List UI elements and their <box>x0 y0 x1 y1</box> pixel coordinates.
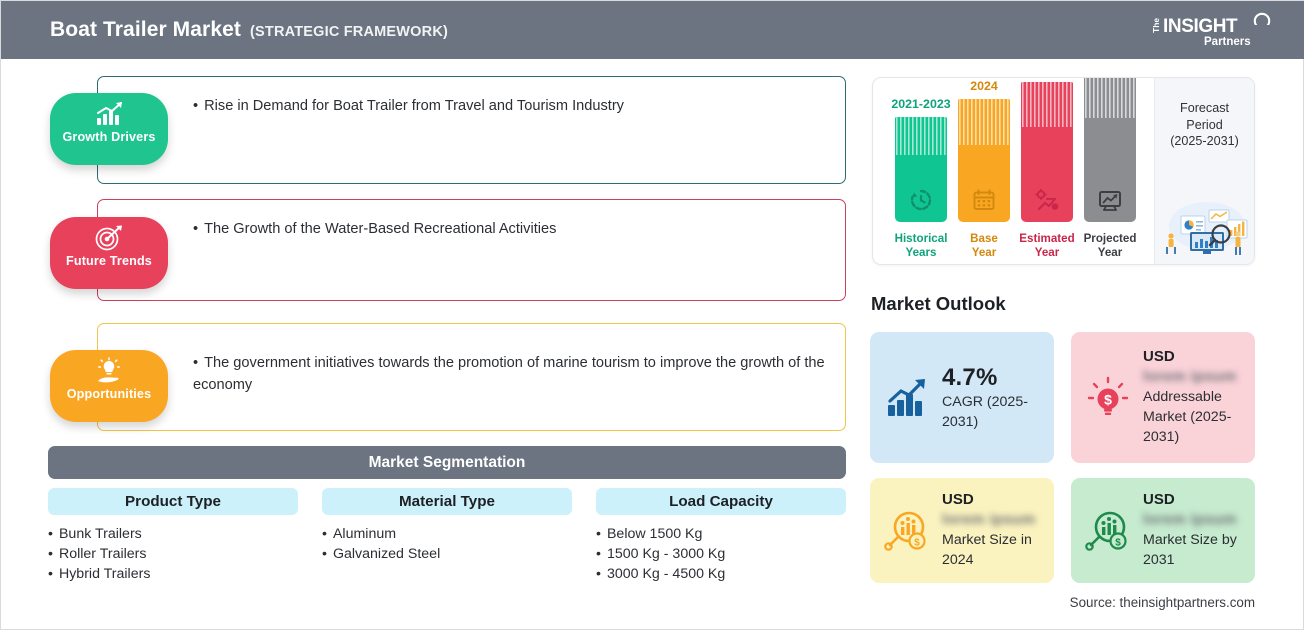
list-item-label: 1500 Kg - 3000 Kg <box>607 544 725 564</box>
key-point-row-growth-drivers: •Rise in Demand for Boat Trailer from Tr… <box>97 76 846 184</box>
page-subtitle: (STRATEGIC FRAMEWORK) <box>250 24 448 40</box>
list-item: •Bunk Trailers <box>48 524 298 544</box>
segmentation-column-header: Load Capacity <box>596 488 846 515</box>
segmentation-list: •Aluminum •Galvanized Steel <box>322 524 572 564</box>
bullet-glyph: • <box>322 544 327 564</box>
bar-icon-slot <box>1021 187 1073 213</box>
segmentation-column-material-type: Material Type •Aluminum •Galvanized Stee… <box>322 488 572 584</box>
key-point-text-wrap: •The Growth of the Water-Based Recreatio… <box>193 218 825 240</box>
outlook-card-blurred-value: lorem ipsum <box>1143 511 1247 528</box>
list-item-label: Galvanized Steel <box>333 544 440 564</box>
market-segmentation-columns: Product Type •Bunk Trailers •Roller Trai… <box>48 488 848 584</box>
calendar-icon <box>971 187 997 213</box>
market-segmentation-title: Market Segmentation <box>369 454 526 472</box>
insight-partners-logo: The INSIGHT Partners <box>1149 12 1277 48</box>
svg-text:Partners: Partners <box>1204 36 1251 48</box>
page-header: Boat Trailer Market (STRATEGIC FRAMEWORK… <box>1 1 1304 59</box>
outlook-card-market-size-2031[interactable]: $ USD lorem ipsum Market Size by 2031 <box>1071 478 1255 583</box>
monitor-chart-icon <box>1097 187 1123 213</box>
infographic-page: Boat Trailer Market (STRATEGIC FRAMEWORK… <box>0 0 1304 630</box>
outlook-card-caption: Market Size by 2031 <box>1143 530 1247 570</box>
forecast-bar-caption: Projected Year <box>1068 232 1152 260</box>
outlook-card-body: USD lorem ipsum Market Size in 2024 <box>942 491 1054 570</box>
outlook-card-blurred-value: lorem ipsum <box>942 511 1046 528</box>
outlook-card-caption: Market Size in 2024 <box>942 530 1046 570</box>
forecast-period-panel: 2021-2023 <box>872 77 1255 265</box>
caption-line-1: Projected <box>1068 232 1152 246</box>
list-item: •Roller Trailers <box>48 544 298 564</box>
magnifier-chart-dollar-icon: $ <box>884 508 930 554</box>
forecast-bar-group-base: 2024 <box>958 99 1010 222</box>
svg-text:$: $ <box>1104 391 1112 407</box>
badge-label: Growth Drivers <box>62 130 155 144</box>
list-item: •1500 Kg - 3000 Kg <box>596 544 846 564</box>
svg-text:$: $ <box>1115 537 1121 548</box>
bar-hatch-pattern <box>1021 82 1073 127</box>
bullet-glyph: • <box>596 524 601 544</box>
list-item-label: Hybrid Trailers <box>59 564 150 584</box>
key-point-text: Rise in Demand for Boat Trailer from Tra… <box>204 98 624 114</box>
key-point-text-wrap: •Rise in Demand for Boat Trailer from Tr… <box>193 95 825 117</box>
gear-graph-icon <box>1034 187 1060 213</box>
forecast-bar <box>895 117 947 222</box>
outlook-card-body: USD lorem ipsum Addressable Market (2025… <box>1143 348 1255 447</box>
key-point-row-future-trends: •The Growth of the Water-Based Recreatio… <box>97 199 846 301</box>
list-item-label: 3000 Kg - 4500 Kg <box>607 564 725 584</box>
badge-future-trends[interactable]: Future Trends <box>50 217 168 289</box>
bar-icon-slot <box>895 187 947 213</box>
outlook-card-value: 4.7% <box>942 364 1046 392</box>
bullet-glyph: • <box>193 98 198 114</box>
forecast-bar <box>1084 77 1136 222</box>
bullet-glyph: • <box>48 564 53 584</box>
svg-text:The: The <box>1151 18 1161 33</box>
outlook-card-body: 4.7% CAGR (2025-2031) <box>942 364 1054 432</box>
bar-chart-arrow-icon <box>884 375 930 421</box>
list-item: •Aluminum <box>322 524 572 544</box>
bullet-glyph: • <box>48 524 53 544</box>
bullet-glyph: • <box>193 221 198 237</box>
outlook-card-market-size-2024[interactable]: $ USD lorem ipsum Market Size in 2024 <box>870 478 1054 583</box>
badge-label: Future Trends <box>66 254 152 268</box>
outlook-card-body: USD lorem ipsum Market Size by 2031 <box>1143 491 1255 570</box>
header-title-wrap: Boat Trailer Market (STRATEGIC FRAMEWORK… <box>50 18 448 42</box>
badge-growth-drivers[interactable]: Growth Drivers <box>50 93 168 165</box>
outlook-card-unit: USD <box>942 491 1046 508</box>
list-item: •Below 1500 Kg <box>596 524 846 544</box>
badge-label: Opportunities <box>67 387 152 401</box>
list-item-label: Bunk Trailers <box>59 524 142 544</box>
bar-hatch-pattern <box>958 99 1010 145</box>
key-point-text: The government initiatives towards the p… <box>193 355 825 393</box>
lightbulb-dollar-icon: $ <box>1085 375 1131 421</box>
bar-chart-growth-icon <box>94 100 124 128</box>
business-analytics-illustration <box>1159 196 1251 258</box>
svg-text:INSIGHT: INSIGHT <box>1163 16 1238 37</box>
lightbulb-in-hand-icon <box>94 357 124 385</box>
bullet-glyph: • <box>322 524 327 544</box>
bullet-glyph: • <box>596 564 601 584</box>
svg-text:$: $ <box>914 537 920 548</box>
bar-icon-slot <box>1084 187 1136 213</box>
bullet-glyph: • <box>596 544 601 564</box>
outlook-card-addressable-market[interactable]: $ USD lorem ipsum Addressable Market (20… <box>1071 332 1255 463</box>
outlook-card-cagr[interactable]: 4.7% CAGR (2025-2031) <box>870 332 1054 463</box>
forecast-bar <box>958 99 1010 222</box>
forecast-bar-year: 2024 <box>944 79 1024 93</box>
forecast-title-line-1: Forecast <box>1155 100 1254 117</box>
outlook-card-unit: USD <box>1143 348 1247 365</box>
forecast-bar-group-estimated: 2025 <box>1021 82 1073 222</box>
outlook-card-blurred-value: lorem ipsum <box>1143 368 1247 385</box>
key-point-row-opportunities: •The government initiatives towards the … <box>97 323 846 431</box>
bar-hatch-pattern <box>895 117 947 155</box>
history-clock-icon <box>908 187 934 213</box>
source-attribution: Source: theinsightpartners.com <box>1070 595 1255 610</box>
magnifier-chart-dollar-icon: $ <box>1085 508 1131 554</box>
key-point-text: The Growth of the Water-Based Recreation… <box>204 221 556 237</box>
bullet-glyph: • <box>48 544 53 564</box>
bar-hatch-pattern <box>1084 77 1136 118</box>
market-outlook-title: Market Outlook <box>871 293 1006 315</box>
list-item-label: Below 1500 Kg <box>607 524 702 544</box>
forecast-bar-group-historical: 2021-2023 <box>895 117 947 222</box>
key-point-text-wrap: •The government initiatives towards the … <box>193 352 825 396</box>
target-dartboard-icon <box>94 224 124 252</box>
outlook-card-caption: CAGR (2025-2031) <box>942 392 1046 432</box>
list-item-label: Roller Trailers <box>59 544 147 564</box>
list-item: •Galvanized Steel <box>322 544 572 564</box>
market-segmentation-header: Market Segmentation <box>48 446 846 479</box>
list-item: •Hybrid Trailers <box>48 564 298 584</box>
forecast-title-line-3: (2025-2031) <box>1155 133 1254 150</box>
forecast-period-title: Forecast Period (2025-2031) <box>1155 100 1254 150</box>
list-item-label: Aluminum <box>333 524 396 544</box>
forecast-title-line-2: Period <box>1155 117 1254 134</box>
forecast-bar-year: 2021-2023 <box>881 97 961 111</box>
segmentation-column-load-capacity: Load Capacity •Below 1500 Kg •1500 Kg - … <box>596 488 846 584</box>
segmentation-column-header: Material Type <box>322 488 572 515</box>
bullet-glyph: • <box>193 355 198 371</box>
forecast-bar <box>1021 82 1073 222</box>
badge-opportunities[interactable]: Opportunities <box>50 350 168 422</box>
segmentation-column-product-type: Product Type •Bunk Trailers •Roller Trai… <box>48 488 298 584</box>
caption-line-2: Year <box>1068 246 1152 260</box>
forecast-bars: 2021-2023 <box>873 78 1158 265</box>
bar-icon-slot <box>958 187 1010 213</box>
segmentation-column-header: Product Type <box>48 488 298 515</box>
page-title: Boat Trailer Market <box>50 18 241 42</box>
outlook-card-unit: USD <box>1143 491 1247 508</box>
segmentation-list: •Below 1500 Kg •1500 Kg - 3000 Kg •3000 … <box>596 524 846 584</box>
forecast-bar-group-projected: 2031 <box>1084 77 1136 222</box>
list-item: •3000 Kg - 4500 Kg <box>596 564 846 584</box>
segmentation-list: •Bunk Trailers •Roller Trailers •Hybrid … <box>48 524 298 584</box>
forecast-period-sidebar: Forecast Period (2025-2031) <box>1154 78 1254 265</box>
outlook-card-caption: Addressable Market (2025-2031) <box>1143 387 1247 447</box>
